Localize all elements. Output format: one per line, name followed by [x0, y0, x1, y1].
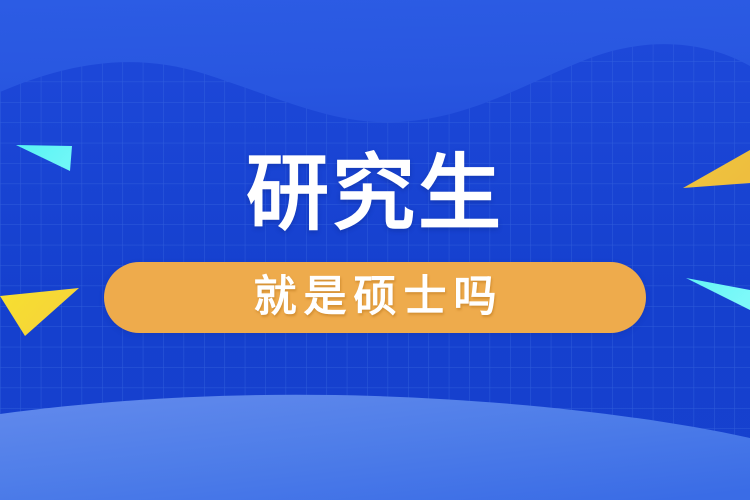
page-title: 研究生 — [246, 152, 504, 235]
promo-banner: 研究生 就是硕士吗 — [0, 0, 750, 500]
subtitle-label: 就是硕士吗 — [247, 276, 504, 319]
banner-content: 研究生 就是硕士吗 — [0, 0, 750, 500]
subtitle-pill-button[interactable]: 就是硕士吗 — [104, 262, 646, 333]
